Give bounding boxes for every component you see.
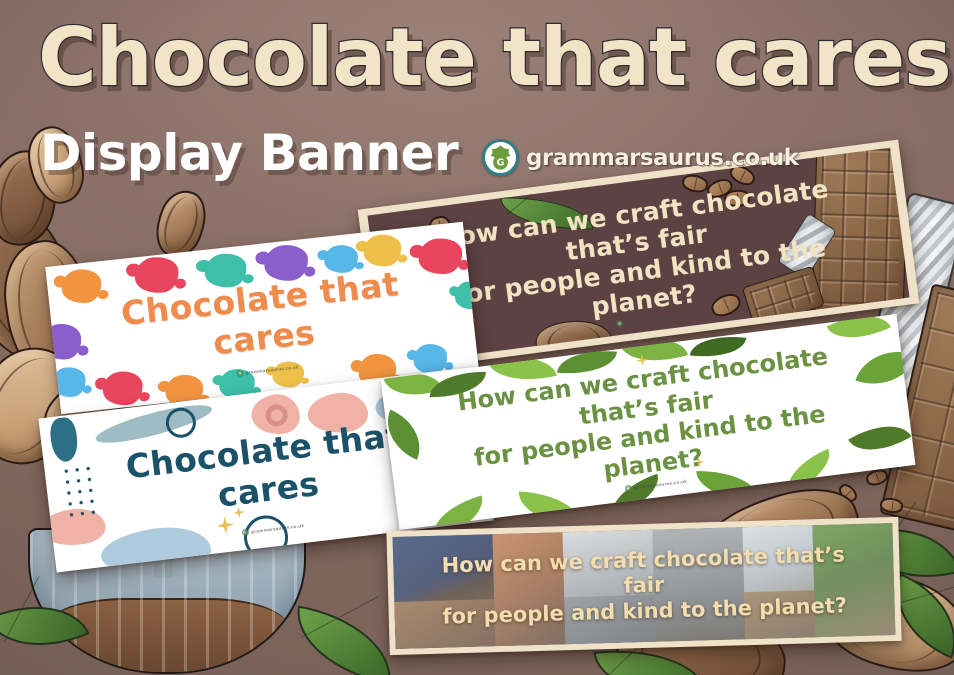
page-subtitle: Display Banner	[40, 128, 458, 178]
brand-wordmark: grammarsaurus.co.uk	[526, 145, 798, 171]
banner-line-1: How can we craft chocolate that’s fair	[441, 542, 845, 598]
grammarsaurus-dino-logo-icon: G	[482, 139, 519, 176]
screenshot-canvas: How can we craft chocolate that’s fair f…	[0, 0, 954, 675]
grammarsaurus-logo-icon	[242, 529, 250, 537]
brand-lockup[interactable]: G grammarsaurus.co.uk	[482, 139, 798, 176]
banner-line-2: for people and kind to the planet?	[442, 593, 847, 628]
page-title: Chocolate that cares	[38, 18, 951, 98]
banner-text-photo: How can we craft chocolate that’s fair f…	[393, 523, 896, 649]
banner-preview-photo[interactable]: How can we craft chocolate that’s fair f…	[386, 517, 901, 655]
grammarsaurus-logo-icon	[615, 320, 623, 328]
grammarsaurus-logo-icon	[624, 484, 632, 492]
logo-letter: G	[497, 158, 505, 169]
banner-line-1: Chocolate that cares	[74, 259, 450, 376]
grammarsaurus-logo-icon	[236, 370, 244, 378]
